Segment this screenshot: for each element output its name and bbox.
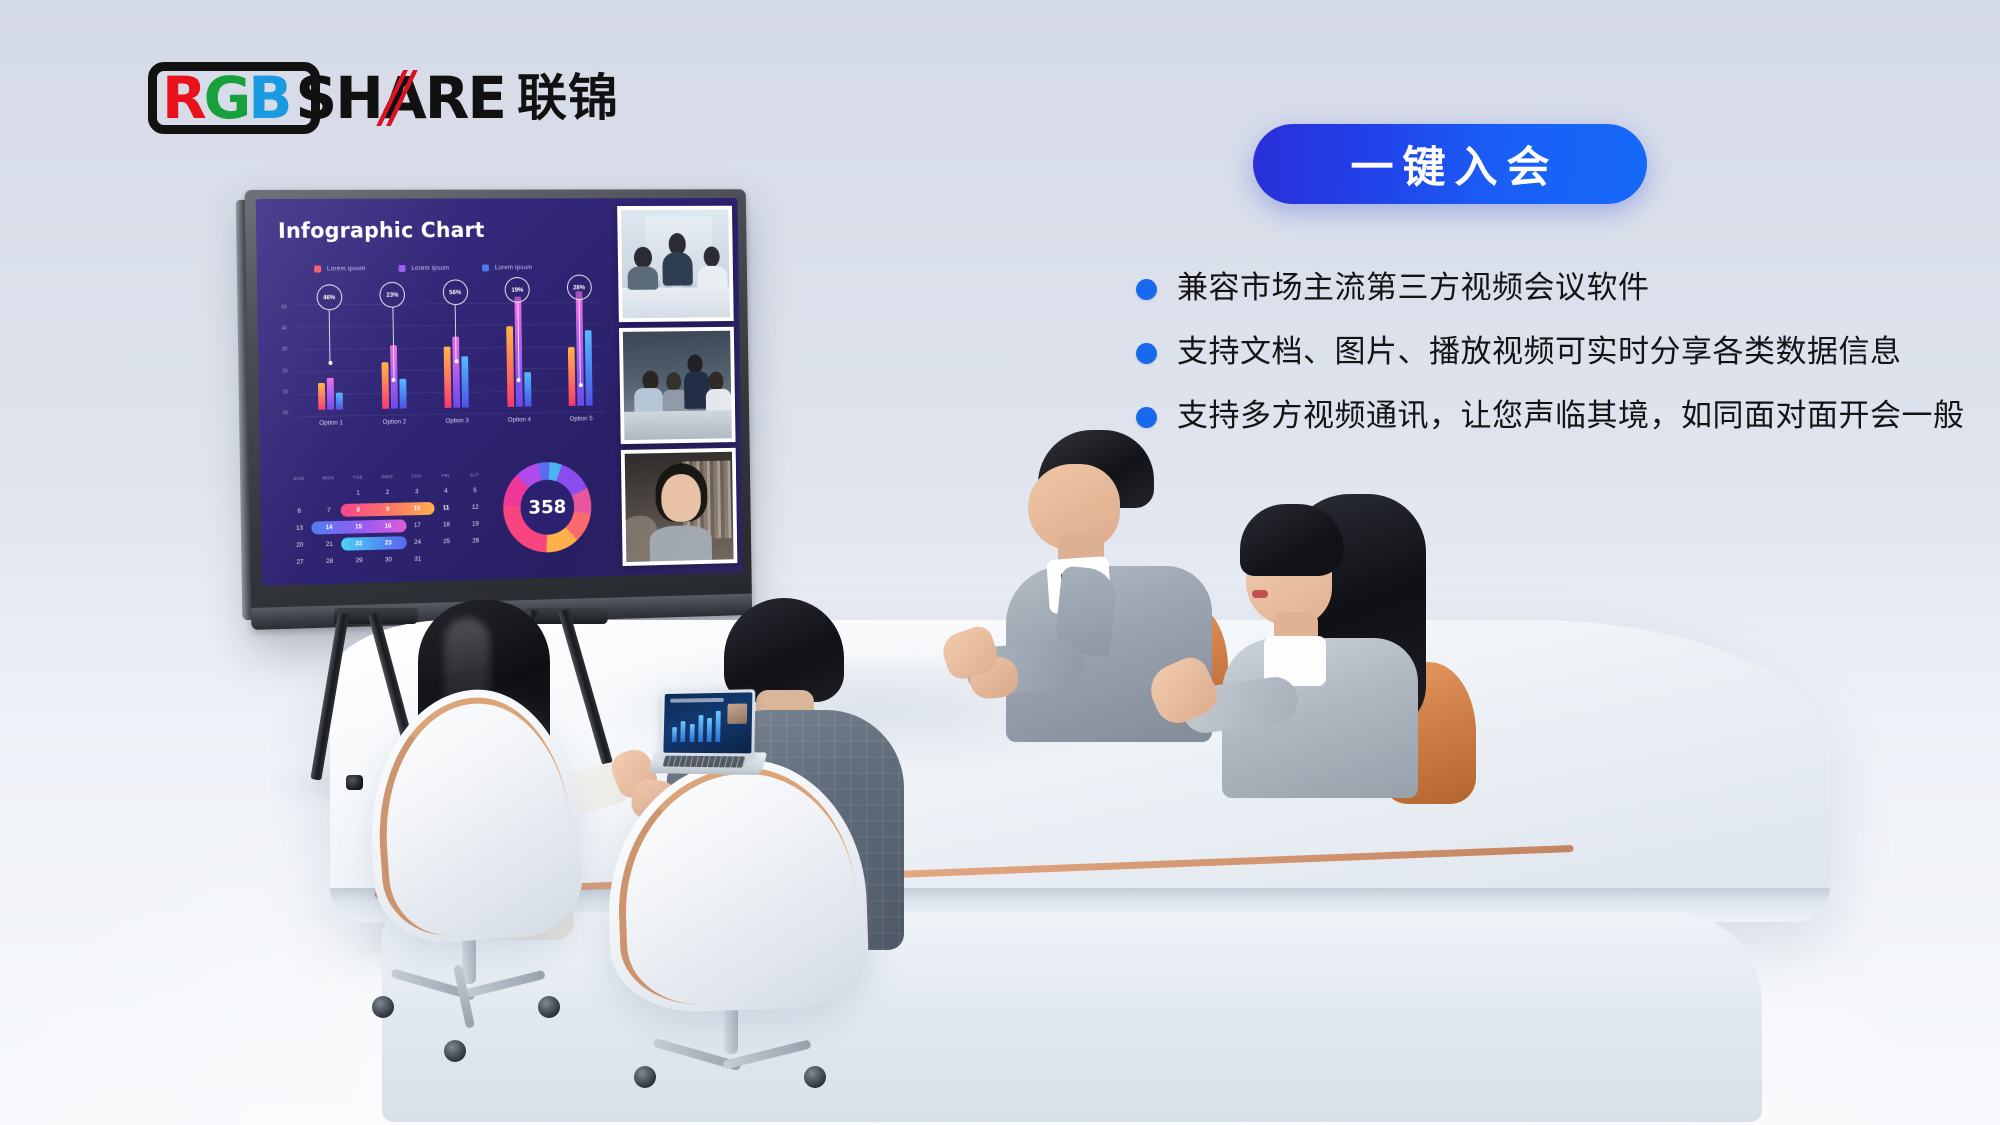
tile-desk — [622, 287, 730, 318]
callout: 56% — [442, 279, 468, 363]
screen-content-left: Infographic Chart Lorem ipsum Lorem ipsu… — [256, 198, 619, 585]
weekday-label: FRI — [431, 473, 460, 483]
bullet-dot-icon — [1136, 407, 1157, 428]
chair-caster-wheel — [804, 1066, 826, 1088]
logo-letter-g: G — [204, 62, 249, 134]
calendar-day[interactable]: 11 — [431, 499, 460, 516]
calendar-day[interactable]: 7 — [314, 502, 344, 520]
weekday-label: SUN — [284, 476, 314, 487]
calendar-day[interactable] — [314, 493, 344, 494]
tile-desk — [624, 410, 732, 440]
calendar-day[interactable]: 5 — [460, 482, 489, 499]
bullet-dot-icon — [1136, 343, 1157, 364]
weekday-label: MON — [313, 475, 343, 486]
legend-swatch-icon — [314, 266, 321, 273]
weekday-label: THU — [402, 473, 431, 483]
y-tick: 40 — [281, 326, 287, 332]
one-click-join-label: 一键入会 — [1342, 133, 1559, 195]
video-tile[interactable] — [619, 327, 736, 444]
bar-group: 56% Option 3 — [433, 285, 479, 408]
feature-list: 兼容市场主流第三方视频会议软件 支持文档、图片、播放视频可实时分享各类数据信息 … — [1136, 268, 1976, 460]
tv-screen[interactable]: Infographic Chart Lorem ipsum Lorem ipsu… — [256, 198, 743, 586]
donut-value: 358 — [528, 496, 566, 518]
calendar-day[interactable]: 10 — [402, 500, 431, 517]
callout-bubble: 19% — [505, 277, 530, 303]
y-tick: 50 — [281, 305, 287, 311]
calendar-day[interactable]: 9 — [373, 501, 403, 519]
list-item: 支持多方视频通讯，让您声临其境，如同面对面开会一般 — [1136, 396, 1976, 437]
video-tile[interactable] — [617, 206, 734, 322]
stand-caster-wheel — [346, 775, 363, 790]
laptop-video-thumb — [727, 703, 747, 724]
calendar-day[interactable]: 3 — [402, 483, 431, 500]
y-tick: 10 — [282, 389, 288, 395]
video-tile[interactable] — [620, 448, 737, 566]
bar-group: 23% Option 2 — [370, 286, 416, 409]
bar-groups: 46% Option 1 — [307, 284, 603, 410]
portrait-body — [649, 525, 712, 561]
calendar-day[interactable]: 29 — [344, 552, 374, 570]
calendar-day[interactable]: 26 — [461, 532, 490, 549]
calendar-widget[interactable]: SUN MON TUE WED THU FRI SAT 1 2 — [284, 472, 491, 571]
callout-bubble: 56% — [442, 279, 468, 305]
office-chair[interactable] — [604, 756, 871, 1015]
bar-group: 46% Option 1 — [307, 286, 354, 410]
calendar-day[interactable]: 30 — [374, 551, 404, 569]
feature-text: 支持多方视频通讯，让您声临其境，如同面对面开会一般 — [1177, 396, 1965, 437]
bar-chart: 50 40 30 20 10 00 — [279, 278, 611, 430]
legend-label: Lorem ipsum — [495, 264, 533, 271]
legend-label: Lorem ipsum — [411, 265, 449, 272]
logo-rgb-text: R G B — [150, 62, 290, 134]
laptop-keyboard — [663, 756, 746, 768]
y-tick: 00 — [283, 410, 289, 416]
office-chair[interactable] — [362, 683, 587, 947]
tv-bezel: Infographic Chart Lorem ipsum Lorem ipsu… — [245, 189, 753, 630]
table-base — [382, 912, 1762, 1122]
calendar-day[interactable]: 17 — [403, 517, 432, 534]
logo-letter-b: B — [248, 62, 289, 134]
laptop-screen — [663, 692, 752, 753]
brand-logo: R G B SHARE 联锦 — [148, 62, 619, 134]
legend-swatch-icon — [399, 265, 406, 272]
bar-group: 28% Option 5 — [557, 284, 602, 406]
lips — [1252, 590, 1268, 598]
hair-front — [1240, 504, 1344, 576]
calendar-day[interactable]: 1 — [343, 484, 373, 502]
calendar-day[interactable]: 14 — [314, 519, 344, 537]
stand-leg — [310, 613, 349, 781]
calendar-day[interactable]: 25 — [432, 533, 461, 550]
woman-seated-right — [1208, 486, 1458, 786]
legend-swatch-icon — [482, 264, 489, 271]
bullet-dot-icon — [1136, 279, 1157, 300]
weekday-label: SAT — [460, 472, 489, 482]
woman-portrait-tile — [624, 452, 733, 562]
feature-text: 兼容市场主流第三方视频会议软件 — [1177, 268, 1650, 309]
conference-display: Infographic Chart Lorem ipsum Lorem ipsu… — [245, 189, 753, 630]
legend-entry: Lorem ipsum — [482, 264, 532, 271]
logo-share-label: SHARE — [296, 62, 505, 134]
donut-center: 358 — [520, 479, 574, 535]
logo-chinese-name: 联锦 — [517, 62, 619, 134]
x-tick-label: Option 5 — [570, 415, 593, 422]
calendar-day[interactable]: 22 — [344, 535, 374, 553]
calendar-day[interactable]: 8 — [343, 501, 373, 519]
laptop-screen-toolbar — [670, 698, 724, 703]
donut-chart: 358 — [502, 461, 591, 553]
boardroom-presenter-tile — [621, 210, 730, 319]
chair-caster-wheel — [538, 996, 560, 1018]
legend-entry: Lorem ipsum — [399, 265, 450, 272]
calendar-day[interactable]: 21 — [314, 536, 344, 554]
calendar-day[interactable]: 18 — [432, 516, 461, 533]
laptop-lid — [661, 689, 756, 756]
calendar-day[interactable]: 4 — [431, 483, 460, 500]
logo-share-text: SHARE — [296, 62, 505, 134]
one-click-join-button[interactable]: 一键入会 — [1253, 124, 1647, 204]
chair-wood-rim — [370, 691, 577, 939]
y-tick: 20 — [282, 368, 288, 374]
calendar-day[interactable]: 23 — [373, 534, 403, 552]
callout-bubble: 28% — [566, 275, 591, 301]
bar-group: 19% Option 4 — [495, 285, 541, 407]
feature-text: 支持文档、图片、播放视频可实时分享各类数据信息 — [1177, 332, 1902, 373]
calendar-day[interactable]: 19 — [461, 515, 490, 532]
slide-canvas: R G B SHARE 联锦 一键入会 兼容市场主流第三方视频会议软件 支持文档… — [0, 0, 2000, 1125]
hair — [724, 598, 844, 702]
calendar-day[interactable]: 12 — [461, 499, 490, 516]
calendar-day[interactable]: 24 — [403, 534, 432, 552]
calendar-day[interactable]: 15 — [344, 518, 374, 536]
calendar-day[interactable] — [432, 558, 461, 559]
logo-badge: R G B — [148, 62, 292, 134]
team-celebration-tile — [622, 331, 731, 440]
calendar-day[interactable]: 6 — [284, 503, 314, 521]
chart-legend: Lorem ipsum Lorem ipsum Lorem ipsum — [314, 264, 608, 273]
donut-ring: 358 — [502, 461, 591, 553]
y-axis: 50 40 30 20 10 00 — [281, 305, 288, 417]
ear — [1096, 496, 1116, 520]
callout-bubble: 23% — [380, 282, 406, 308]
portrait-face — [661, 474, 700, 522]
screen-title: Infographic Chart — [278, 218, 608, 243]
chair-caster-wheel — [372, 996, 394, 1018]
x-tick-label: Option 4 — [508, 416, 531, 423]
callout: 19% — [505, 277, 532, 382]
calendar-day[interactable] — [461, 557, 490, 558]
weekday-label: WED — [373, 474, 402, 485]
calendar-day[interactable]: 16 — [373, 517, 403, 535]
weekday-label: TUE — [343, 475, 373, 486]
x-tick-label: Option 3 — [445, 417, 469, 424]
callout: 46% — [316, 284, 343, 365]
y-tick: 30 — [282, 347, 288, 353]
laptop[interactable] — [651, 689, 758, 783]
legend-label: Lorem ipsum — [327, 265, 366, 272]
calendar-day[interactable]: 27 — [285, 553, 315, 571]
calendar-day[interactable]: 2 — [373, 484, 403, 501]
list-item: 兼容市场主流第三方视频会议软件 — [1136, 268, 1976, 309]
calendar-day[interactable]: 13 — [285, 519, 315, 537]
calendar-day[interactable]: 20 — [285, 536, 315, 554]
x-tick-label: Option 1 — [319, 419, 343, 426]
callout: 28% — [566, 275, 593, 388]
callout-bubble: 46% — [316, 284, 342, 310]
chair-caster-wheel — [634, 1066, 656, 1088]
calendar-day[interactable]: 31 — [403, 550, 432, 568]
chair-caster-wheel — [444, 1040, 466, 1062]
logo-letter-r: R — [162, 62, 204, 134]
callout: 23% — [380, 282, 407, 382]
calendar-day[interactable] — [284, 494, 314, 495]
list-item: 支持文档、图片、播放视频可实时分享各类数据信息 — [1136, 332, 1976, 373]
calendar-day[interactable]: 28 — [315, 553, 345, 571]
legend-entry: Lorem ipsum — [314, 265, 365, 272]
x-tick-label: Option 2 — [383, 418, 407, 425]
video-call-tiles — [617, 206, 738, 566]
